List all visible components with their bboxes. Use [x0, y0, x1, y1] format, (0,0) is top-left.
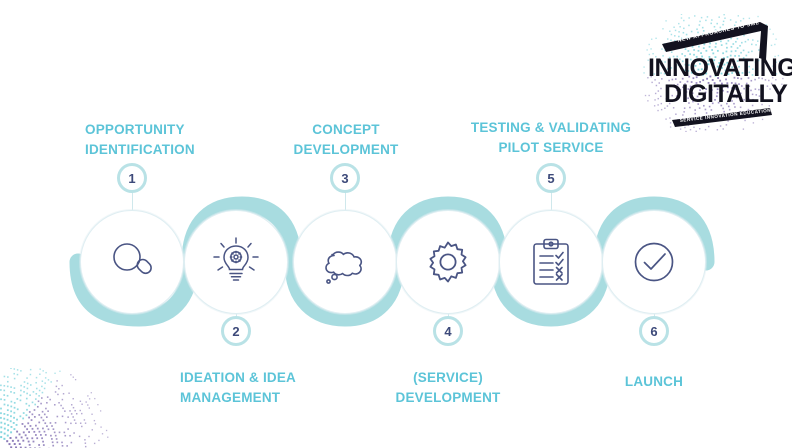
step-label-6: LAUNCH — [544, 372, 764, 392]
step-label-4: (SERVICE) DEVELOPMENT — [338, 368, 558, 407]
logo-title-line2: DIGITALLY — [664, 80, 788, 108]
step-badge-6[interactable]: 6 — [639, 316, 669, 346]
thought-bubble-icon — [317, 237, 373, 287]
step-label-3-line2: DEVELOPMENT — [236, 140, 456, 160]
halftone-dots-decoration — [0, 368, 130, 448]
step-label-3-line1: CONCEPT — [236, 120, 456, 140]
step-badge-2[interactable]: 2 — [221, 316, 251, 346]
step-badge-4[interactable]: 4 — [433, 316, 463, 346]
step-label-5-line1: TESTING & VALIDATING — [441, 118, 661, 138]
step-label-6-line1: LAUNCH — [544, 372, 764, 392]
innovating-digitally-logo: NEW APPROACHES TO SME INNOVATING DIGITAL… — [642, 14, 792, 132]
step-label-5: TESTING & VALIDATING PILOT SERVICE — [441, 118, 661, 157]
step-label-4-line1: (SERVICE) — [338, 368, 558, 388]
step-badge-3[interactable]: 3 — [330, 163, 360, 193]
gear-icon — [422, 236, 474, 288]
step-node-6[interactable] — [602, 210, 706, 314]
step-label-5-line2: PILOT SERVICE — [441, 138, 661, 158]
step-node-1[interactable] — [80, 210, 184, 314]
clipboard-checklist-icon — [527, 236, 575, 288]
step-node-4[interactable] — [396, 210, 500, 314]
step-node-2[interactable] — [184, 210, 288, 314]
step-badge-1[interactable]: 1 — [117, 163, 147, 193]
lightbulb-gear-icon — [208, 234, 264, 290]
logo-title-line1: INNOVATING — [648, 54, 792, 82]
step-node-5[interactable] — [499, 210, 603, 314]
step-node-3[interactable] — [293, 210, 397, 314]
step-label-3: CONCEPT DEVELOPMENT — [236, 120, 456, 159]
step-label-4-line2: DEVELOPMENT — [338, 388, 558, 408]
step-badge-5[interactable]: 5 — [536, 163, 566, 193]
infographic-canvas: 1 OPPORTUNITY IDENTIFICATION 2 IDEATION … — [0, 0, 800, 448]
check-circle-icon — [628, 236, 680, 288]
magnifier-icon — [106, 236, 158, 288]
